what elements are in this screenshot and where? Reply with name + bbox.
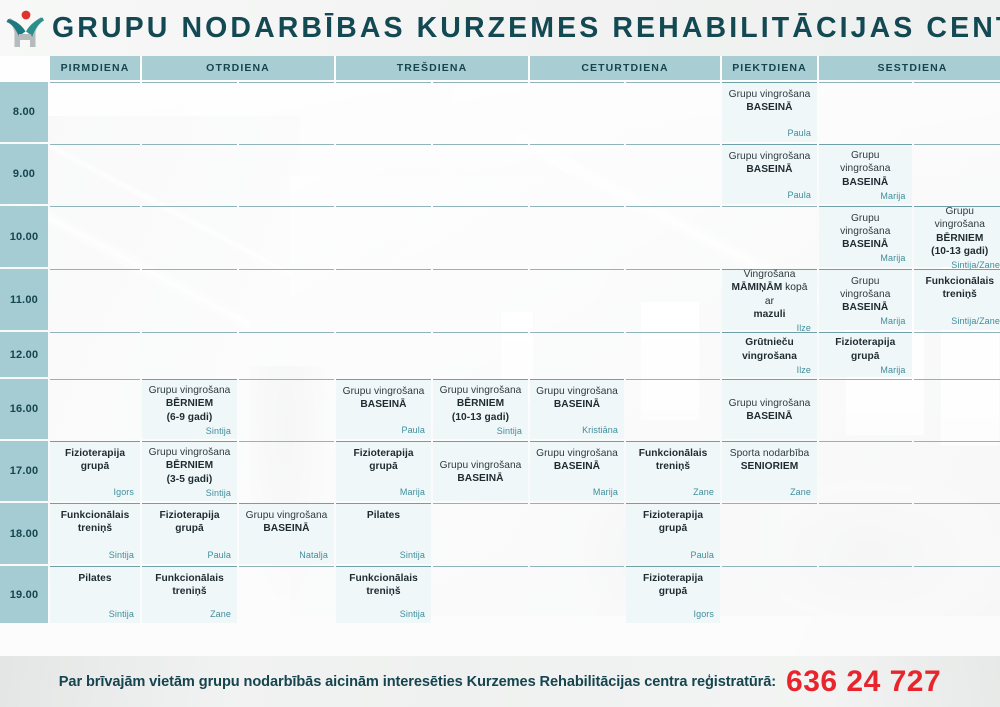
empty-cell <box>142 206 237 267</box>
coach-name: Paula <box>690 548 714 560</box>
class-cell[interactable]: FizioterapijagrupāIgors <box>626 566 720 623</box>
class-line-2: BASEINĀ <box>263 522 309 535</box>
day-column-otrdiena <box>142 144 334 204</box>
empty-cell <box>626 332 720 377</box>
person-figure-logo-icon <box>0 0 50 56</box>
empty-cell <box>239 206 334 267</box>
empty-cell <box>530 269 624 330</box>
coach-name: Marija <box>400 485 425 497</box>
class-line-2: Fizioterapija <box>159 509 219 522</box>
empty-cell <box>142 82 237 142</box>
class-cell[interactable]: Grupu vingrošanaBĒRNIEM(10-13 gadi)Sinti… <box>914 206 1000 267</box>
empty-cell <box>819 503 912 564</box>
day-column-tresdiena <box>336 82 528 142</box>
day-column-ceturtdiena <box>530 144 720 204</box>
empty-cell <box>914 379 1000 439</box>
class-line-2: Fizioterapija <box>835 336 895 349</box>
empty-cell <box>50 379 140 439</box>
class-line-2: BASEINĀ <box>842 238 888 251</box>
class-line-3: (3-5 gadi) <box>167 473 213 486</box>
day-header-otrdiena: OTRDIENA <box>142 56 334 80</box>
schedule-poster: GRUPU NODARBĪBAS KURZEMES REHABILITĀCIJA… <box>0 0 1000 707</box>
day-column-ceturtdiena: FizioterapijagrupāPaula <box>530 503 720 564</box>
day-column-ceturtdiena <box>530 269 720 330</box>
class-line-2: BASEINĀ <box>554 398 600 411</box>
empty-cell <box>433 566 528 623</box>
empty-cell <box>50 82 140 142</box>
coach-name: Igors <box>113 485 134 497</box>
empty-cell <box>50 269 140 330</box>
class-line-1: Grupu vingrošana <box>729 150 811 163</box>
class-line-2b: grupā <box>81 460 110 473</box>
schedule-row: 17.00FizioterapijagrupāIgorsGrupu vingro… <box>0 441 1000 501</box>
empty-cell <box>530 503 624 564</box>
coach-name: Sintija <box>206 424 231 436</box>
empty-cell <box>530 206 624 267</box>
day-column-piektdiena: Grupu vingrošanaBASEINĀ <box>722 379 817 439</box>
class-line-2b: grupā <box>659 585 688 598</box>
class-line-2: Funkcionālais <box>61 509 130 522</box>
empty-cell <box>142 332 237 377</box>
schedule-grid: PIRMDIENA OTRDIENA TREŠDIENA CETURTDIENA… <box>0 56 1000 623</box>
coach-name: Marija <box>880 363 905 375</box>
empty-cell <box>433 82 528 142</box>
class-line-1: Grupu vingrošana <box>920 205 1000 231</box>
empty-cell <box>722 503 817 564</box>
time-label-9-00: 9.00 <box>0 144 48 204</box>
coach-name: Sintija <box>109 548 134 560</box>
coach-name: Zane <box>210 607 231 619</box>
day-column-piektdiena <box>722 206 817 267</box>
coach-name: Paula <box>787 188 811 200</box>
day-label: TREŠDIENA <box>397 62 468 74</box>
coach-name: Kristiāna <box>582 423 618 435</box>
schedule-row: 12.00GrūtniečuvingrošanaIlzeFizioterapij… <box>0 332 1000 377</box>
day-column-tresdiena: FunkcionālaistreniņšSintija <box>336 566 528 623</box>
day-column-otrdiena: FizioterapijagrupāPaulaGrupu vingrošanaB… <box>142 503 334 564</box>
day-column-piektdiena: Sporta nodarbībaSENIORIEMZane <box>722 441 817 501</box>
day-column-pirmdiena <box>50 144 140 204</box>
class-line-2: BASEINĀ <box>842 176 888 189</box>
empty-cell <box>626 206 720 267</box>
class-line-3: (10-13 gadi) <box>931 245 988 258</box>
coach-name: Sintija <box>109 607 134 619</box>
coach-name: Marija <box>880 314 905 326</box>
empty-cell <box>433 206 528 267</box>
empty-cell <box>626 144 720 204</box>
coach-name: Paula <box>207 548 231 560</box>
day-label: CETURTDIENA <box>581 62 668 74</box>
empty-cell <box>433 144 528 204</box>
class-cell[interactable]: Grupu vingrošanaBASEINĀPaula <box>336 379 431 439</box>
class-line-2: BASEINĀ <box>360 398 406 411</box>
corner-cell <box>0 56 48 80</box>
class-line-2: SENIORIEM <box>741 460 799 473</box>
class-line-1: Grupu vingrošana <box>825 212 906 238</box>
class-line-2b: grupā <box>175 522 204 535</box>
schedule-row: 8.00Grupu vingrošanaBASEINĀPaula <box>0 82 1000 142</box>
empty-cell <box>239 269 334 330</box>
empty-cell <box>239 144 334 204</box>
class-line-1: Grupu vingrošana <box>825 275 906 301</box>
day-label: SESTDIENA <box>878 62 948 74</box>
empty-cell <box>142 269 237 330</box>
day-header-ceturtdiena: CETURTDIENA <box>530 56 720 80</box>
day-column-piektdiena <box>722 566 817 623</box>
day-column-otrdiena <box>142 206 334 267</box>
schedule-row: 16.00Grupu vingrošanaBĒRNIEM(6-9 gadi)Si… <box>0 379 1000 439</box>
class-line-2: BĒRNIEM <box>166 459 213 472</box>
empty-cell <box>819 566 912 623</box>
class-cell[interactable]: FunkcionālaistreniņšZane <box>142 566 237 623</box>
empty-cell <box>336 332 431 377</box>
class-cell[interactable]: Grupu vingrošanaBASEINĀPaula <box>722 82 817 142</box>
class-line-3: mazuli <box>753 308 785 321</box>
class-cell[interactable]: PilatesSintija <box>50 566 140 623</box>
class-cell[interactable]: FunkcionālaistreniņšZane <box>626 441 720 501</box>
time-label-12-00: 12.00 <box>0 332 48 377</box>
day-header-piektdiena: PIEKTDIENA <box>722 56 817 80</box>
day-column-piektdiena: Grupu vingrošanaBASEINĀPaula <box>722 144 817 204</box>
coach-name: Sintija <box>206 486 231 498</box>
class-cell[interactable]: Grupu vingrošanaBASEINĀNatalja <box>239 503 334 564</box>
day-column-sestdiena <box>819 566 1000 623</box>
empty-cell <box>626 379 720 439</box>
day-column-tresdiena: PilatesSintija <box>336 503 528 564</box>
class-line-2: Funkcionālais <box>349 572 418 585</box>
class-cell[interactable]: Grupu vingrošanaBĒRNIEM(10-13 gadi)Sinti… <box>433 379 528 439</box>
class-line-1: Grupu vingrošana <box>246 509 328 522</box>
day-column-pirmdiena <box>50 269 140 330</box>
class-line-1: Grupu vingrošana <box>729 397 811 410</box>
coach-name: Sintija <box>400 548 425 560</box>
time-label-19-00: 19.00 <box>0 566 48 623</box>
class-line-2: BĒRNIEM <box>936 232 983 245</box>
class-cell[interactable]: FizioterapijagrupāPaula <box>142 503 237 564</box>
empty-cell <box>336 206 431 267</box>
class-cell[interactable]: Grupu vingrošanaBASEINĀMarija <box>819 144 912 204</box>
class-line-2: Pilates <box>367 509 400 522</box>
day-label: PIEKTDIENA <box>732 62 807 74</box>
class-line-3: (6-9 gadi) <box>167 411 213 424</box>
day-column-sestdiena <box>819 503 1000 564</box>
day-label: OTRDIENA <box>206 62 270 74</box>
empty-cell <box>433 269 528 330</box>
day-column-sestdiena: Grupu vingrošanaBASEINĀMarijaFunkcionāla… <box>819 269 1000 330</box>
day-column-tresdiena: FizioterapijagrupāMarijaGrupu vingrošana… <box>336 441 528 501</box>
day-column-pirmdiena: PilatesSintija <box>50 566 140 623</box>
empty-cell <box>530 144 624 204</box>
day-label: PIRMDIENA <box>61 62 130 74</box>
class-line-2: BĒRNIEM <box>166 397 213 410</box>
class-line-1: Grupu vingrošana <box>149 446 231 459</box>
coach-name: Marija <box>880 251 905 263</box>
time-label-10-00: 10.00 <box>0 206 48 267</box>
class-line-2b: vingrošana <box>742 350 797 363</box>
empty-cell <box>914 566 1000 623</box>
class-line-2b: treniņš <box>172 585 206 598</box>
day-column-ceturtdiena: Grupu vingrošanaBASEINĀMarijaFunkcionāla… <box>530 441 720 501</box>
time-label-11-00: 11.00 <box>0 269 48 330</box>
class-cell[interactable]: FizioterapijagrupāIgors <box>50 441 140 501</box>
coach-name: Sintija <box>400 607 425 619</box>
schedule-row: 10.00Grupu vingrošanaBASEINĀMarijaGrupu … <box>0 206 1000 267</box>
class-line-2: Fizioterapija <box>65 447 125 460</box>
class-cell[interactable]: FizioterapijagrupāPaula <box>626 503 720 564</box>
coach-name: Marija <box>593 485 618 497</box>
empty-cell <box>239 441 334 501</box>
day-column-tresdiena <box>336 269 528 330</box>
day-column-sestdiena: Grupu vingrošanaBASEINĀMarija <box>819 144 1000 204</box>
day-column-piektdiena: Grupu vingrošanaBASEINĀPaula <box>722 82 817 142</box>
day-column-tresdiena <box>336 206 528 267</box>
class-line-2: Fizioterapija <box>643 572 703 585</box>
coach-name: Marija <box>880 189 905 201</box>
class-cell[interactable]: VingrošanaMĀMIŅĀM kopā armazuliIlze <box>722 269 817 330</box>
day-column-pirmdiena: FizioterapijagrupāIgors <box>50 441 140 501</box>
class-line-2b: treniņš <box>78 522 112 535</box>
empty-cell <box>819 441 912 501</box>
class-line-2: Funkcionālais <box>639 447 708 460</box>
class-cell[interactable]: GrūtniečuvingrošanaIlze <box>722 332 817 377</box>
day-column-piektdiena: GrūtniečuvingrošanaIlze <box>722 332 817 377</box>
class-line-2: BASEINĀ <box>746 410 792 423</box>
day-column-tresdiena <box>336 144 528 204</box>
class-line-2: MĀMIŅĀM kopā ar <box>728 281 811 307</box>
class-cell[interactable]: Sporta nodarbībaSENIORIEMZane <box>722 441 817 501</box>
day-column-pirmdiena <box>50 82 140 142</box>
day-column-pirmdiena: FunkcionālaistreniņšSintija <box>50 503 140 564</box>
class-cell[interactable]: Grupu vingrošanaBASEINĀKristiāna <box>530 379 624 439</box>
class-line-1: Grupu vingrošana <box>343 385 425 398</box>
poster-header: GRUPU NODARBĪBAS KURZEMES REHABILITĀCIJA… <box>0 0 1000 56</box>
day-column-ceturtdiena: FizioterapijagrupāIgors <box>530 566 720 623</box>
class-cell[interactable]: FizioterapijagrupāMarija <box>819 332 912 377</box>
schedule-row: 9.00Grupu vingrošanaBASEINĀPaulaGrupu vi… <box>0 144 1000 204</box>
day-column-sestdiena <box>819 82 1000 142</box>
class-cell[interactable]: FunkcionālaistreniņšSintija <box>336 566 431 623</box>
class-cell[interactable]: FunkcionālaistreniņšSintija <box>50 503 140 564</box>
class-line-2b: grupā <box>369 460 398 473</box>
schedule-row: 11.00VingrošanaMĀMIŅĀM kopā armazuliIlze… <box>0 269 1000 330</box>
empty-cell <box>914 144 1000 204</box>
time-label-17-00: 17.00 <box>0 441 48 501</box>
class-line-1: Grupu vingrošana <box>536 385 618 398</box>
empty-cell <box>530 566 624 623</box>
day-column-otrdiena: Grupu vingrošanaBĒRNIEM(6-9 gadi)Sintija <box>142 379 334 439</box>
time-label-8-00: 8.00 <box>0 82 48 142</box>
coach-name: Paula <box>401 423 425 435</box>
empty-cell <box>239 82 334 142</box>
class-line-2: BĒRNIEM <box>457 397 504 410</box>
class-cell[interactable]: FizioterapijagrupāMarija <box>336 441 431 501</box>
day-column-ceturtdiena <box>530 332 720 377</box>
empty-cell <box>530 82 624 142</box>
class-line-2: BASEINĀ <box>746 163 792 176</box>
empty-cell <box>914 332 1000 377</box>
empty-cell <box>914 441 1000 501</box>
empty-cell <box>626 82 720 142</box>
class-line-1: Grupu vingrošana <box>536 447 618 460</box>
coach-name: Ilze <box>797 321 811 333</box>
class-cell[interactable]: Grupu vingrošanaBASEINĀMarija <box>819 206 912 267</box>
day-column-piektdiena: VingrošanaMĀMIŅĀM kopā armazuliIlze <box>722 269 817 330</box>
class-line-2b: grupā <box>851 350 880 363</box>
footer-text: Par brīvajām vietām grupu nodarbībās aic… <box>59 674 776 690</box>
empty-cell <box>239 332 334 377</box>
empty-cell <box>239 566 334 623</box>
class-line-2: Fizioterapija <box>643 509 703 522</box>
coach-name: Ilze <box>797 363 811 375</box>
empty-cell <box>722 566 817 623</box>
class-cell[interactable]: Grupu vingrošanaBĒRNIEM(3-5 gadi)Sintija <box>142 441 237 501</box>
coach-name: Natalja <box>299 548 328 560</box>
empty-cell <box>914 82 1000 142</box>
class-line-2b: treniņš <box>943 288 977 301</box>
class-cell[interactable]: Grupu vingrošanaBASEINĀ <box>433 441 528 501</box>
class-cell[interactable]: Grupu vingrošanaBASEINĀPaula <box>722 144 817 204</box>
day-column-pirmdiena <box>50 379 140 439</box>
class-line-2: Grūtnieču <box>745 336 794 349</box>
day-column-otrdiena: FunkcionālaistreniņšZane <box>142 566 334 623</box>
class-line-1: Grupu vingrošana <box>440 459 522 472</box>
day-column-pirmdiena <box>50 332 140 377</box>
phone-number[interactable]: 636 24 727 <box>786 667 941 697</box>
empty-cell <box>50 206 140 267</box>
time-label-16-00: 16.00 <box>0 379 48 439</box>
coach-name: Igors <box>693 607 714 619</box>
day-column-ceturtdiena <box>530 206 720 267</box>
empty-cell <box>626 269 720 330</box>
class-line-1: Sporta nodarbība <box>730 447 810 460</box>
class-line-1: Grupu vingrošana <box>440 384 522 397</box>
class-line-2: Funkcionālais <box>155 572 224 585</box>
class-line-2: Funkcionālais <box>925 275 994 288</box>
day-column-sestdiena <box>819 441 1000 501</box>
day-header-tresdiena: TREŠDIENA <box>336 56 528 80</box>
empty-cell <box>336 269 431 330</box>
schedule-row: 18.00FunkcionālaistreniņšSintijaFizioter… <box>0 503 1000 564</box>
empty-cell <box>819 379 912 439</box>
day-header-pirmdiena: PIRMDIENA <box>50 56 140 80</box>
class-cell[interactable]: Grupu vingrošanaBASEINĀMarija <box>819 269 912 330</box>
schedule-row: 19.00PilatesSintijaFunkcionālaistreniņšZ… <box>0 566 1000 623</box>
day-header-row: PIRMDIENA OTRDIENA TREŠDIENA CETURTDIENA… <box>0 56 1000 80</box>
empty-cell <box>914 503 1000 564</box>
empty-cell <box>50 144 140 204</box>
footer: Par brīvajām vietām grupu nodarbībās aic… <box>0 656 1000 707</box>
class-line-2b: grupā <box>659 522 688 535</box>
day-header-sestdiena: SESTDIENA <box>819 56 1000 80</box>
class-line-1: Vingrošana <box>744 268 796 281</box>
empty-cell <box>722 206 817 267</box>
class-cell[interactable]: Grupu vingrošanaBASEINĀMarija <box>530 441 624 501</box>
class-line-2b: treniņš <box>366 585 400 598</box>
class-line-1: Grupu vingrošana <box>729 88 811 101</box>
class-cell[interactable]: Grupu vingrošanaBASEINĀ <box>722 379 817 439</box>
class-cell[interactable]: Grupu vingrošanaBĒRNIEM(6-9 gadi)Sintija <box>142 379 237 439</box>
empty-cell <box>336 144 431 204</box>
coach-name: Sintija/Zane <box>951 314 1000 326</box>
empty-cell <box>142 144 237 204</box>
class-line-1: Grupu vingrošana <box>825 149 906 175</box>
day-column-otrdiena <box>142 269 334 330</box>
page-title: GRUPU NODARBĪBAS KURZEMES REHABILITĀCIJA… <box>50 14 1000 43</box>
day-column-otrdiena <box>142 332 334 377</box>
class-line-1: Grupu vingrošana <box>149 384 231 397</box>
class-line-3: (10-13 gadi) <box>452 411 509 424</box>
empty-cell <box>819 82 912 142</box>
day-column-piektdiena <box>722 503 817 564</box>
day-column-sestdiena: FizioterapijagrupāMarija <box>819 332 1000 377</box>
day-column-pirmdiena <box>50 206 140 267</box>
empty-cell <box>50 332 140 377</box>
coach-name: Paula <box>787 126 811 138</box>
class-cell[interactable]: FunkcionālaistreniņšSintija/Zane <box>914 269 1000 330</box>
day-column-tresdiena <box>336 332 528 377</box>
class-cell[interactable]: PilatesSintija <box>336 503 431 564</box>
day-column-sestdiena: Grupu vingrošanaBASEINĀMarijaGrupu vingr… <box>819 206 1000 267</box>
day-column-ceturtdiena <box>530 82 720 142</box>
class-line-2: BASEINĀ <box>746 101 792 114</box>
class-line-2b: treniņš <box>656 460 690 473</box>
day-column-sestdiena <box>819 379 1000 439</box>
class-line-2: Pilates <box>78 572 111 585</box>
empty-cell <box>239 379 334 439</box>
coach-name: Sintija/Zane <box>951 258 1000 270</box>
empty-cell <box>530 332 624 377</box>
empty-cell <box>433 332 528 377</box>
class-line-2: BASEINĀ <box>842 301 888 314</box>
day-column-ceturtdiena: Grupu vingrošanaBASEINĀKristiāna <box>530 379 720 439</box>
day-column-tresdiena: Grupu vingrošanaBASEINĀPaulaGrupu vingro… <box>336 379 528 439</box>
class-line-2: BASEINĀ <box>457 472 503 485</box>
coach-name: Sintija <box>497 424 522 436</box>
class-line-2: Fizioterapija <box>353 447 413 460</box>
empty-cell <box>433 503 528 564</box>
coach-name: Zane <box>790 485 811 497</box>
time-label-18-00: 18.00 <box>0 503 48 564</box>
coach-name: Zane <box>693 485 714 497</box>
empty-cell <box>336 82 431 142</box>
day-column-otrdiena: Grupu vingrošanaBĒRNIEM(3-5 gadi)Sintija <box>142 441 334 501</box>
day-column-otrdiena <box>142 82 334 142</box>
class-line-2: BASEINĀ <box>554 460 600 473</box>
